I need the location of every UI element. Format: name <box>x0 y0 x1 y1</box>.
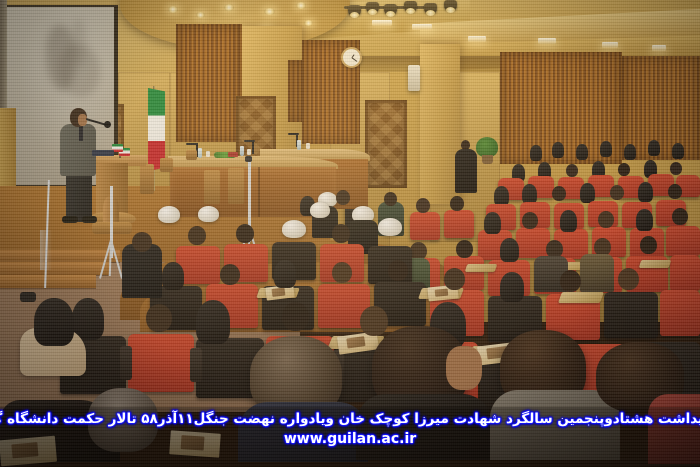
person-head <box>282 302 309 331</box>
person-head <box>336 190 350 205</box>
drinking-cup <box>306 143 310 149</box>
person-hijab <box>162 262 184 290</box>
person-head <box>640 236 657 254</box>
seat[interactable] <box>516 228 550 258</box>
person-hijab <box>500 272 524 302</box>
foreground-face <box>446 346 482 390</box>
conference-photograph <box>0 0 700 467</box>
person-head <box>668 184 682 199</box>
spotlight-icon <box>366 2 379 13</box>
person-head <box>146 304 172 332</box>
person-head <box>332 262 352 283</box>
wall-speaker <box>408 65 420 91</box>
person-head <box>522 212 538 229</box>
photo-screenshot: گرامیداشت هشتادوپنجمین سالگرد شهادت میرز… <box>0 0 700 467</box>
downlight-icon <box>168 6 178 13</box>
caption-url: www.guilan.ac.ir <box>284 431 416 447</box>
person-head <box>610 185 624 200</box>
recessed-light-icon <box>538 38 556 44</box>
person-hijab <box>624 144 636 160</box>
podium-microphone <box>104 121 111 128</box>
table-microphone <box>186 143 197 145</box>
cleric-turban <box>282 220 306 238</box>
acoustic-slat-panel <box>288 60 302 122</box>
cleric-turban <box>198 206 219 222</box>
wall-clock <box>341 47 362 68</box>
person-head <box>360 306 388 336</box>
recessed-light-icon <box>412 24 432 30</box>
person-hijab <box>580 183 595 203</box>
person-torso <box>122 244 162 298</box>
seat[interactable] <box>128 334 194 392</box>
person-hijab <box>484 212 501 234</box>
recessed-light-icon <box>602 42 618 48</box>
person-head <box>332 224 350 243</box>
person-head <box>598 211 614 228</box>
recessed-light-icon <box>652 45 666 51</box>
speaker-tie <box>79 126 83 141</box>
seat[interactable] <box>670 255 700 291</box>
person-hijab <box>494 186 509 206</box>
person-head <box>456 240 473 258</box>
spotlight-icon <box>424 3 437 14</box>
person-hijab <box>530 145 542 161</box>
recessed-light-icon <box>372 20 392 26</box>
seat[interactable] <box>666 226 700 256</box>
person-head <box>188 226 206 245</box>
person-head <box>132 232 152 252</box>
seat-armrest <box>190 348 202 382</box>
seat[interactable] <box>444 210 474 238</box>
caption-banner: گرامیداشت هشتادوپنجمین سالگرد شهادت میرز… <box>0 407 700 467</box>
person-hijab <box>636 209 653 231</box>
person-hijab <box>274 260 296 288</box>
person-hijab <box>500 238 519 262</box>
person-head <box>444 268 465 290</box>
downlight-icon <box>296 2 306 9</box>
projected-shape <box>72 19 86 67</box>
person-head <box>672 208 688 225</box>
downlight-icon <box>264 8 275 15</box>
table-microphone <box>244 140 255 142</box>
caption-headline: گرامیداشت هشتادوپنجمین سالگرد شهادت میرز… <box>0 411 700 428</box>
person-head <box>670 162 682 175</box>
acoustic-slat-panel <box>176 24 242 142</box>
downlight-icon <box>304 20 313 26</box>
person-hijab <box>34 298 74 346</box>
person-head <box>416 198 430 213</box>
person-hijab <box>522 184 537 204</box>
person-head <box>552 186 566 201</box>
spotlight-icon <box>444 0 457 11</box>
person-head <box>618 163 630 176</box>
seat[interactable] <box>410 212 440 240</box>
downlight-icon <box>224 4 234 11</box>
audience-seating <box>0 150 700 440</box>
person-hijab <box>638 182 653 202</box>
person-head <box>236 224 254 243</box>
person-hijab <box>576 144 588 160</box>
person-torso <box>580 254 614 292</box>
folding-desklet[interactable] <box>465 264 498 272</box>
cleric-turban <box>378 218 402 236</box>
person-hijab <box>552 142 564 158</box>
person-hijab <box>648 140 660 156</box>
person-hijab <box>600 141 612 157</box>
spotlight-icon <box>404 1 417 12</box>
person-head <box>450 196 464 211</box>
person-head <box>388 260 408 281</box>
person-torso <box>455 149 477 193</box>
water-bottle <box>297 140 301 150</box>
table-microphone <box>288 133 299 135</box>
spotlight-icon <box>348 5 361 16</box>
spotlight-icon <box>384 4 397 15</box>
person-hijab <box>196 300 230 344</box>
downlight-icon <box>196 12 205 18</box>
person-head <box>220 264 240 285</box>
clock-minute-hand <box>351 57 357 61</box>
person-hijab <box>672 143 684 159</box>
person-hijab <box>560 210 577 232</box>
seat-armrest <box>120 346 132 380</box>
seat[interactable] <box>604 292 658 338</box>
person-head <box>618 268 639 290</box>
person-head <box>566 164 578 177</box>
cleric-turban <box>158 206 180 223</box>
folding-desklet[interactable] <box>558 292 604 303</box>
cleric-turban <box>310 202 330 218</box>
seat[interactable] <box>660 290 700 336</box>
person-head <box>560 270 581 292</box>
person-head <box>384 192 397 206</box>
acoustic-slat-panel <box>622 56 700 160</box>
recessed-light-icon <box>468 36 486 42</box>
folding-desklet[interactable] <box>639 260 672 268</box>
